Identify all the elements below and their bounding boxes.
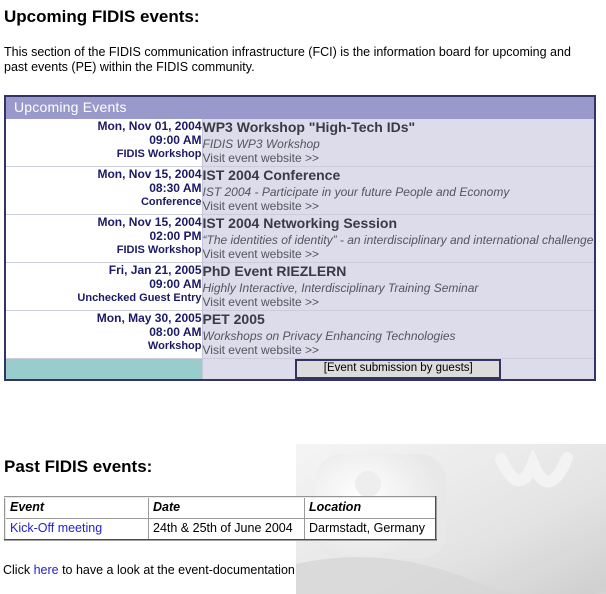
table-row: Mon, May 30, 2005 08:00 AM Workshop PET … [6,311,594,359]
event-title: WP3 Workshop "High-Tech IDs" [203,119,595,136]
table-row: Kick-Off meeting 24th & 25th of June 200… [5,519,436,541]
event-subtitle: “The identities of identity” - an interd… [203,233,595,247]
event-website-link[interactable]: Visit event website >> [203,199,320,214]
upcoming-events-header: Upcoming Events [6,97,594,119]
upcoming-events-table: Mon, Nov 01, 2004 09:00 AM FIDIS Worksho… [6,119,594,379]
past-event-date-cell: 24th & 25th of June 2004 [149,519,305,541]
event-time: 09:00 AM [6,133,202,147]
past-events-body: Event Date Location Kick-Off meeting 24t… [5,497,436,540]
event-website-link[interactable]: Visit event website >> [203,151,320,166]
page-title: Upcoming FIDIS events: [4,7,606,27]
event-date-cell: Mon, Nov 01, 2004 09:00 AM FIDIS Worksho… [6,119,202,167]
past-event-location-cell: Darmstadt, Germany [305,519,437,541]
column-header-date: Date [149,497,305,519]
event-subtitle: Highly Interactive, Interdisciplinary Tr… [203,281,595,295]
upcoming-events-body: Mon, Nov 01, 2004 09:00 AM FIDIS Worksho… [6,119,594,379]
event-info-cell: IST 2004 Conference IST 2004 - Participa… [202,167,594,215]
event-time: 02:00 PM [6,229,202,243]
event-time: 08:30 AM [6,181,202,195]
column-header-location: Location [305,497,437,519]
intro-paragraph: This section of the FIDIS communication … [4,45,584,75]
event-info-cell: WP3 Workshop "High-Tech IDs" FIDIS WP3 W… [202,119,594,167]
event-info-cell: PhD Event RIEZLERN Highly Interactive, I… [202,263,594,311]
event-subtitle: IST 2004 - Participate in your future Pe… [203,185,595,199]
event-time: 09:00 AM [6,277,202,291]
event-subtitle: FIDIS WP3 Workshop [203,137,595,151]
events-footer-action-cell: [Event submission by guests] [202,359,594,380]
event-date: Mon, Nov 15, 2004 [6,215,202,229]
event-date-cell: Mon, May 30, 2005 08:00 AM Workshop [6,311,202,359]
event-title: PET 2005 [203,311,595,328]
page-root: Upcoming FIDIS events: This section of t… [0,7,606,75]
event-date-cell: Mon, Nov 15, 2004 08:30 AM Conference [6,167,202,215]
event-date-cell: Mon, Nov 15, 2004 02:00 PM FIDIS Worksho… [6,215,202,263]
event-title: PhD Event RIEZLERN [203,263,595,280]
past-event-name-cell: Kick-Off meeting [5,519,149,541]
event-subtitle: Workshops on Privacy Enhancing Technolog… [203,329,595,343]
column-header-event: Event [5,497,149,519]
upcoming-events-box: Upcoming Events Mon, Nov 01, 2004 09:00 … [4,95,596,381]
event-title: IST 2004 Networking Session [203,215,595,232]
event-type: FIDIS Workshop [6,147,202,161]
table-row: Mon, Nov 15, 2004 08:30 AM Conference IS… [6,167,594,215]
event-title: IST 2004 Conference [203,167,595,184]
past-events-table: Event Date Location Kick-Off meeting 24t… [4,496,437,541]
event-date: Mon, May 30, 2005 [6,311,202,325]
event-website-link[interactable]: Visit event website >> [203,295,320,310]
event-website-link[interactable]: Visit event website >> [203,247,320,262]
event-type: Workshop [6,339,202,353]
table-row: Fri, Jan 21, 2005 09:00 AM Unchecked Gue… [6,263,594,311]
past-events-title: Past FIDIS events: [4,457,152,477]
event-info-cell: PET 2005 Workshops on Privacy Enhancing … [202,311,594,359]
event-website-link[interactable]: Visit event website >> [203,343,320,358]
event-date: Mon, Nov 01, 2004 [6,119,202,133]
events-footer-row: [Event submission by guests] [6,359,594,380]
event-submission-button[interactable]: [Event submission by guests] [295,359,501,379]
event-type: Unchecked Guest Entry [6,291,202,305]
events-footer-spacer [6,359,202,380]
event-time: 08:00 AM [6,325,202,339]
event-date-cell: Fri, Jan 21, 2005 09:00 AM Unchecked Gue… [6,263,202,311]
event-date: Fri, Jan 21, 2005 [6,263,202,277]
table-row: Mon, Nov 15, 2004 02:00 PM FIDIS Worksho… [6,215,594,263]
past-event-link[interactable]: Kick-Off meeting [10,521,102,535]
past-events-header-row: Event Date Location [5,497,436,519]
table-row: Mon, Nov 01, 2004 09:00 AM FIDIS Worksho… [6,119,594,167]
event-type: Conference [6,195,202,209]
event-info-cell: IST 2004 Networking Session “The identit… [202,215,594,263]
event-type: FIDIS Workshop [6,243,202,257]
event-date: Mon, Nov 15, 2004 [6,167,202,181]
